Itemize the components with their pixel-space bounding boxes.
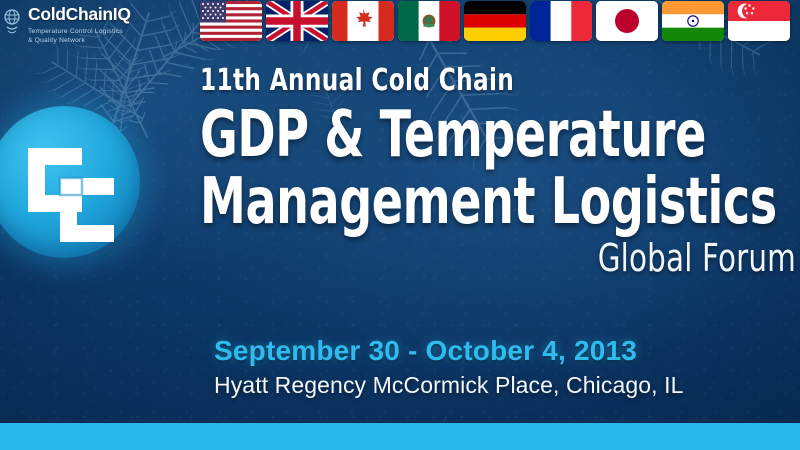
headline-block: 11th Annual Cold Chain GDP & Temperature… <box>200 66 796 277</box>
globe-emblem-icon <box>4 8 24 38</box>
coldchainiq-logo[interactable]: ColdChainIQ Temperature Control Logistic… <box>4 6 131 46</box>
event-subtitle: Global Forum <box>283 239 796 277</box>
bottom-accent-bar <box>0 423 800 450</box>
flag-mexico <box>398 1 460 41</box>
flag-uk <box>266 1 328 41</box>
event-info-block: September 30 - October 4, 2013 Hyatt Reg… <box>214 336 683 399</box>
flag-japan <box>596 1 658 41</box>
logo-tagline-line1: Temperature Control Logistics <box>28 28 123 35</box>
event-dates: September 30 - October 4, 2013 <box>214 336 683 366</box>
logo-tagline: Temperature Control Logistics & Quality … <box>28 27 131 47</box>
conference-banner: ColdChainIQ Temperature Control Logistic… <box>0 0 800 450</box>
country-flag-row <box>200 1 790 41</box>
logo-tagline-line2: & Quality Network <box>28 37 85 44</box>
flag-usa <box>200 1 262 41</box>
event-title-line1: GDP & Temperature <box>200 104 677 167</box>
flag-india <box>662 1 724 41</box>
flag-canada <box>332 1 394 41</box>
flag-germany <box>464 1 526 41</box>
logo-wordmark: ColdChainIQ <box>28 6 131 24</box>
flag-singapore <box>728 1 790 41</box>
event-venue: Hyatt Regency McCormick Place, Chicago, … <box>214 373 683 398</box>
event-kicker: 11th Annual Cold Chain <box>200 66 713 96</box>
flag-france <box>530 1 592 41</box>
event-title-line2: Management Logistics <box>200 171 677 234</box>
cc-circle-badge-icon <box>0 106 140 258</box>
